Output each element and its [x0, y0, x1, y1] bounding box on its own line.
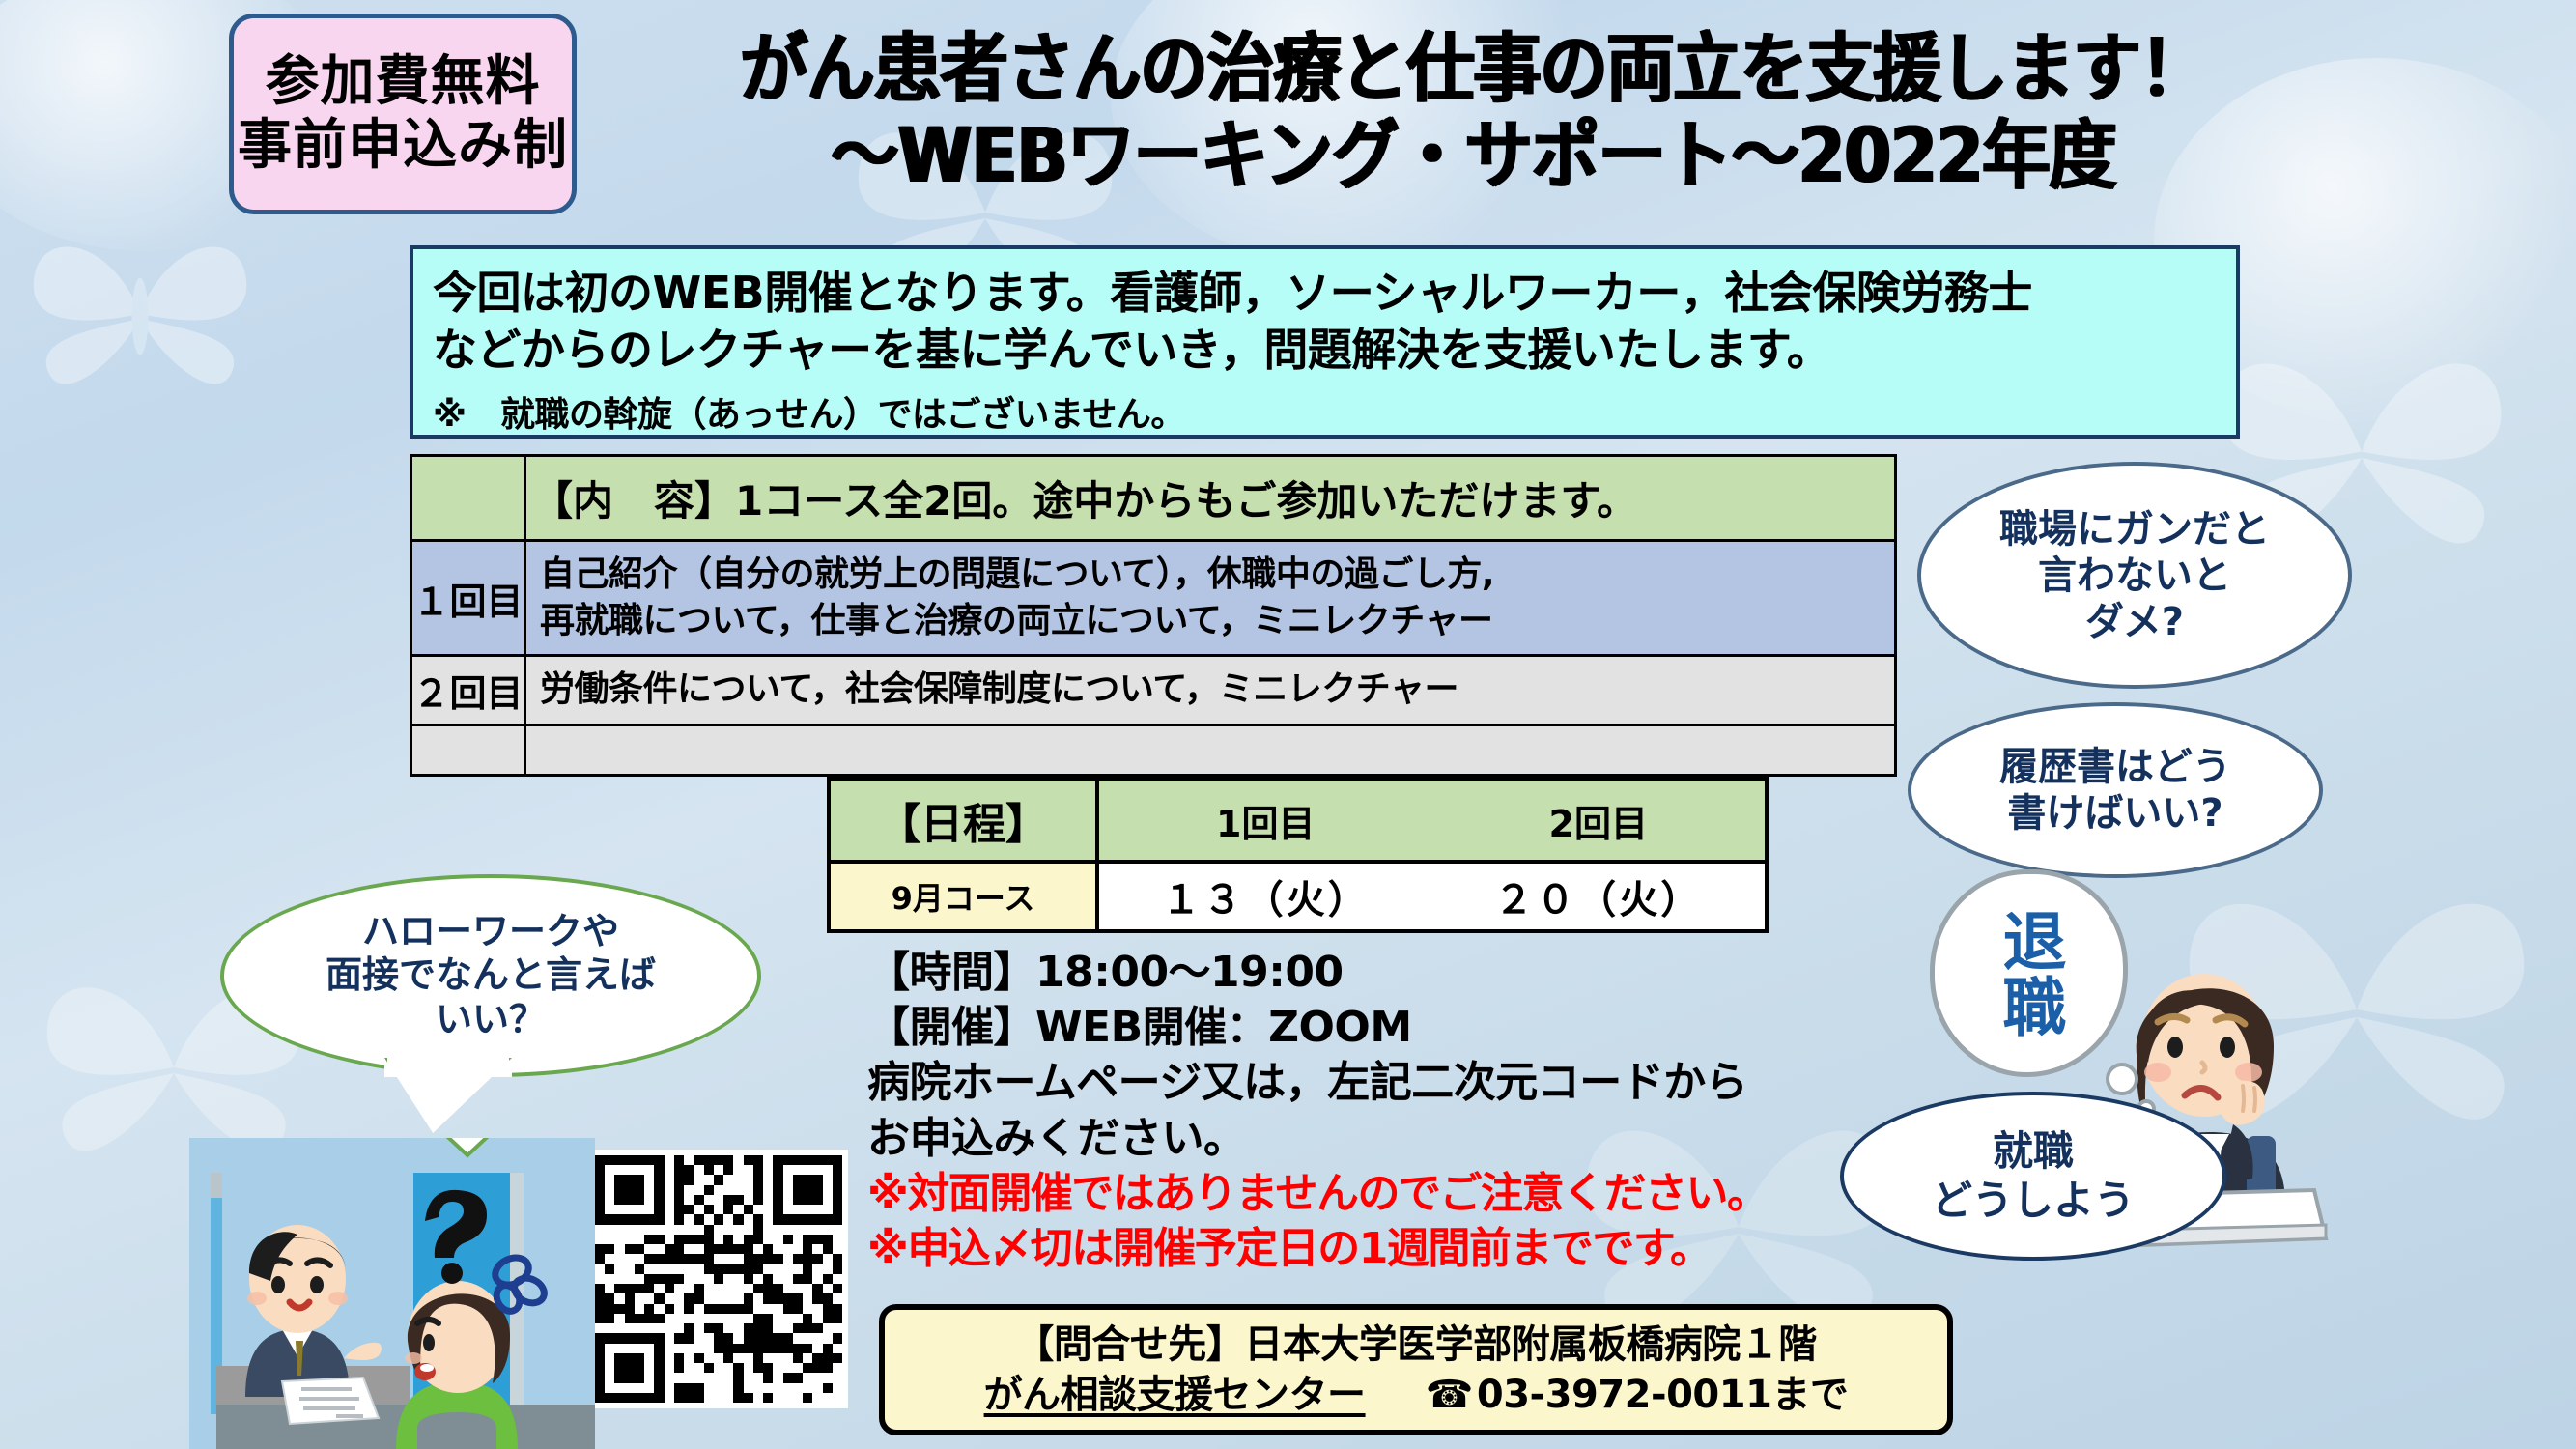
content-session-1-line-1: 自己紹介（自分の就労上の問題について），休職中の過ごし方,: [540, 552, 1888, 598]
qr-module: [614, 1165, 624, 1175]
qr-module: [625, 1274, 635, 1284]
qr-module: [694, 1235, 703, 1244]
qr-module: [605, 1264, 614, 1274]
qr-module: [694, 1264, 703, 1274]
qr-module: [684, 1284, 694, 1293]
qr-module: [733, 1264, 743, 1274]
qr-module: [665, 1244, 674, 1254]
qr-module: [605, 1175, 614, 1184]
qr-module: [744, 1155, 753, 1165]
qr-module: [733, 1175, 743, 1184]
qr-module: [694, 1274, 703, 1284]
qr-module: [654, 1214, 664, 1224]
qr-module: [625, 1155, 635, 1165]
qr-module: [614, 1333, 624, 1343]
qr-module: [763, 1155, 773, 1165]
contact-center-name: がん相談支援センター: [984, 1370, 1422, 1420]
qr-module: [833, 1175, 842, 1184]
content-table-header-row: 【内 容】1コース全2回。途中からもご参加いただけます。: [411, 456, 1896, 541]
qr-module: [614, 1304, 624, 1314]
qr-module: [605, 1205, 614, 1214]
qr-module: [665, 1314, 674, 1323]
qr-module: [694, 1373, 703, 1382]
qr-module: [803, 1353, 812, 1363]
qr-module: [654, 1264, 664, 1274]
qr-module: [733, 1254, 743, 1264]
qr-module: [753, 1363, 763, 1373]
qr-module: [704, 1353, 714, 1363]
qr-module: [635, 1353, 644, 1363]
qr-module: [823, 1284, 833, 1293]
schedule-table: 【日程】 1回目 2回目 9月コース １３（火） ２０（火）: [827, 777, 1769, 933]
qr-module: [665, 1323, 674, 1333]
qr-module: [783, 1165, 793, 1175]
qr-module: [635, 1155, 644, 1165]
qr-module: [812, 1155, 822, 1165]
qr-module: [723, 1205, 733, 1214]
qr-module: [684, 1185, 694, 1195]
content-session-1-label: １回目: [411, 541, 525, 656]
qr-module: [625, 1235, 635, 1244]
qr-module: [793, 1373, 803, 1382]
bubble-workplace-line-2: 言わないと: [2038, 553, 2231, 599]
qr-module: [714, 1344, 723, 1353]
qr-module: [833, 1264, 842, 1274]
qr-module: [605, 1373, 614, 1382]
qr-module: [625, 1373, 635, 1382]
qr-module: [635, 1165, 644, 1175]
qr-module: [625, 1264, 635, 1274]
qr-module: [744, 1344, 753, 1353]
qr-module: [665, 1214, 674, 1224]
qr-module: [684, 1363, 694, 1373]
qr-module: [823, 1155, 833, 1165]
qr-module: [614, 1274, 624, 1284]
qr-module: [614, 1155, 624, 1165]
qr-module: [614, 1344, 624, 1353]
qr-module: [753, 1353, 763, 1363]
qr-module: [674, 1225, 684, 1235]
qr-module: [793, 1274, 803, 1284]
qr-module: [793, 1264, 803, 1274]
qr-module: [763, 1323, 773, 1333]
qr-module: [763, 1264, 773, 1274]
contact-info-box: 【問合せ先】日本大学医学部附属板橋病院１階 がん相談支援センター ☎ 03-39…: [879, 1304, 1953, 1435]
qr-module: [733, 1225, 743, 1235]
qr-module: [654, 1175, 664, 1184]
qr-module: [605, 1304, 614, 1314]
qr-module: [595, 1363, 605, 1373]
qr-module: [744, 1205, 753, 1214]
qr-module: [595, 1175, 605, 1184]
qr-module: [744, 1175, 753, 1184]
qr-module: [595, 1225, 605, 1235]
qr-module: [812, 1323, 822, 1333]
qr-module: [744, 1383, 753, 1393]
qr-module: [684, 1264, 694, 1274]
qr-module: [763, 1333, 773, 1343]
qr-module: [714, 1323, 723, 1333]
qr-module: [723, 1195, 733, 1205]
poster-canvas: 参加費無料 事前申込み制 がん患者さんの治療と仕事の両立を支援します！ ～WEB…: [0, 0, 2576, 1449]
qr-module: [723, 1344, 733, 1353]
qr-module: [723, 1185, 733, 1195]
qr-module: [654, 1235, 664, 1244]
detail-warning-1: ※対面開催ではありませんのでご注意ください。: [867, 1166, 1949, 1221]
bubble-workplace-line-3: ダメ?: [2085, 599, 2184, 645]
qr-module: [773, 1314, 782, 1323]
qr-module: [714, 1254, 723, 1264]
qr-module: [665, 1235, 674, 1244]
intro-paragraph-2: などからのレクチャーを基に学んでいき，問題解決を支援いたします。: [433, 322, 2217, 379]
telephone-icon: ☎: [1426, 1370, 1473, 1420]
qr-module: [684, 1383, 694, 1393]
detail-time: 【時間】18:00～19:00: [867, 945, 1949, 1000]
schedule-date-1: １３（火）: [1162, 868, 1370, 924]
speech-bubble-workplace: 職場にガンだと 言わないと ダメ?: [1917, 462, 2352, 689]
title-line-2: ～WEBワーキング・サポート～2022年度: [609, 108, 2337, 205]
qr-module: [783, 1225, 793, 1235]
qr-module: [773, 1165, 782, 1175]
qr-module: [684, 1353, 694, 1363]
qr-module: [694, 1363, 703, 1373]
qr-module: [803, 1195, 812, 1205]
qr-module: [812, 1175, 822, 1184]
qr-module: [674, 1284, 684, 1293]
qr-module: [783, 1254, 793, 1264]
table-row: 9月コース １３（火） ２０（火）: [829, 862, 1767, 931]
qr-module: [644, 1225, 654, 1235]
qr-module: [635, 1323, 644, 1333]
intro-description-box: 今回は初のWEB開催となります。看護師，ソーシャルワーカー，社会保険労務士 など…: [410, 245, 2240, 439]
qr-module: [733, 1363, 743, 1373]
qr-module: [694, 1244, 703, 1254]
qr-module: [783, 1244, 793, 1254]
qr-module: [803, 1225, 812, 1235]
qr-module: [644, 1353, 654, 1363]
qr-code[interactable]: [589, 1150, 848, 1408]
detail-warning-2: ※申込〆切は開催予定日の1週間前までです。: [867, 1221, 1949, 1276]
qr-module: [773, 1155, 782, 1165]
qr-module: [665, 1175, 674, 1184]
qr-module: [812, 1383, 822, 1393]
qr-module: [654, 1353, 664, 1363]
qr-module: [723, 1155, 733, 1165]
qr-module: [654, 1195, 664, 1205]
qr-module: [684, 1274, 694, 1284]
qr-module: [614, 1225, 624, 1235]
qr-module: [753, 1333, 763, 1343]
qr-module: [694, 1323, 703, 1333]
qr-module: [684, 1175, 694, 1184]
qr-module: [773, 1353, 782, 1363]
qr-module: [644, 1235, 654, 1244]
qr-module: [823, 1225, 833, 1235]
qr-module: [665, 1344, 674, 1353]
qr-module: [694, 1205, 703, 1214]
table-row: ２回目 労働条件について，社会保障制度について，ミニレクチャー: [411, 656, 1896, 724]
qr-module: [823, 1363, 833, 1373]
qr-module: [635, 1293, 644, 1303]
qr-module: [714, 1195, 723, 1205]
qr-module: [773, 1214, 782, 1224]
qr-module: [783, 1274, 793, 1284]
qr-module: [684, 1314, 694, 1323]
qr-module: [595, 1254, 605, 1264]
qr-module: [823, 1254, 833, 1264]
qr-module: [773, 1284, 782, 1293]
qr-module: [665, 1165, 674, 1175]
qr-module: [744, 1363, 753, 1373]
qr-module: [605, 1383, 614, 1393]
qr-module: [684, 1293, 694, 1303]
qr-module: [833, 1353, 842, 1363]
qr-module: [753, 1344, 763, 1353]
qr-module: [714, 1363, 723, 1373]
qr-module: [812, 1284, 822, 1293]
qr-module: [595, 1205, 605, 1214]
qr-module: [614, 1284, 624, 1293]
qr-module: [793, 1284, 803, 1293]
qr-module: [605, 1235, 614, 1244]
qr-module: [684, 1214, 694, 1224]
qr-module: [635, 1333, 644, 1343]
qr-module: [783, 1314, 793, 1323]
qr-module: [625, 1225, 635, 1235]
qr-module: [595, 1185, 605, 1195]
qr-module: [763, 1373, 773, 1382]
qr-module: [803, 1383, 812, 1393]
qr-module: [723, 1214, 733, 1224]
qr-module: [773, 1363, 782, 1373]
qr-module: [803, 1284, 812, 1293]
qr-module: [614, 1185, 624, 1195]
qr-module: [763, 1185, 773, 1195]
qr-module: [714, 1293, 723, 1303]
qr-module: [595, 1383, 605, 1393]
qr-module: [694, 1304, 703, 1314]
bubble-resume-line-2: 書けばいい?: [2007, 790, 2222, 837]
qr-module: [644, 1274, 654, 1284]
qr-module: [644, 1383, 654, 1393]
qr-module: [644, 1195, 654, 1205]
qr-module: [744, 1304, 753, 1314]
qr-module: [753, 1254, 763, 1264]
qr-module: [783, 1214, 793, 1224]
qr-module: [644, 1254, 654, 1264]
qr-module: [714, 1383, 723, 1393]
qr-module: [812, 1205, 822, 1214]
qr-module: [605, 1214, 614, 1224]
qr-module: [605, 1165, 614, 1175]
qr-module: [812, 1195, 822, 1205]
qr-module: [723, 1175, 733, 1184]
qr-module: [753, 1235, 763, 1244]
qr-module: [665, 1195, 674, 1205]
qr-module: [783, 1155, 793, 1165]
qr-module: [823, 1165, 833, 1175]
qr-module: [753, 1214, 763, 1224]
content-header-text: 【内 容】1コース全2回。途中からもご参加いただけます。: [525, 456, 1896, 541]
qr-module: [793, 1225, 803, 1235]
qr-module: [674, 1353, 684, 1363]
qr-module: [605, 1314, 614, 1323]
qr-module: [595, 1353, 605, 1363]
qr-module: [744, 1165, 753, 1175]
qr-module: [773, 1274, 782, 1284]
qr-module: [833, 1304, 842, 1314]
qr-module: [704, 1393, 714, 1403]
qr-module: [744, 1235, 753, 1244]
qr-module: [793, 1314, 803, 1323]
qr-module: [684, 1155, 694, 1165]
qr-module: [674, 1195, 684, 1205]
qr-module: [723, 1383, 733, 1393]
qr-module: [763, 1383, 773, 1393]
qr-module: [674, 1393, 684, 1403]
qr-module: [753, 1293, 763, 1303]
qr-module: [793, 1155, 803, 1165]
bubble-hellowork-line-2: 面接でなんと言えば: [326, 953, 656, 998]
qr-module: [803, 1333, 812, 1343]
qr-module: [823, 1314, 833, 1323]
qr-module: [753, 1175, 763, 1184]
qr-module: [812, 1254, 822, 1264]
qr-module: [733, 1205, 743, 1214]
qr-module: [704, 1264, 714, 1274]
qr-module: [733, 1155, 743, 1165]
qr-module: [605, 1185, 614, 1195]
qr-module: [773, 1293, 782, 1303]
qr-module: [665, 1304, 674, 1314]
qr-module: [744, 1284, 753, 1293]
qr-module: [605, 1333, 614, 1343]
qr-module: [704, 1165, 714, 1175]
qr-module: [625, 1165, 635, 1175]
qr-module: [635, 1373, 644, 1382]
qr-module: [625, 1214, 635, 1224]
qr-module: [783, 1195, 793, 1205]
qr-module: [812, 1353, 822, 1363]
qr-module: [704, 1214, 714, 1224]
qr-module: [605, 1353, 614, 1363]
qr-module: [674, 1254, 684, 1264]
qr-module: [833, 1363, 842, 1373]
qr-module: [595, 1314, 605, 1323]
qr-module: [733, 1185, 743, 1195]
qr-module: [635, 1214, 644, 1224]
qr-module: [812, 1393, 822, 1403]
qr-module: [654, 1333, 664, 1343]
qr-module: [773, 1264, 782, 1274]
qr-module: [614, 1373, 624, 1382]
qr-module: [833, 1293, 842, 1303]
qr-module: [733, 1353, 743, 1363]
qr-module: [773, 1244, 782, 1254]
qr-module: [665, 1225, 674, 1235]
qr-module: [723, 1373, 733, 1382]
qr-module: [654, 1344, 664, 1353]
qr-module: [812, 1235, 822, 1244]
qr-module: [803, 1175, 812, 1184]
qr-module: [684, 1393, 694, 1403]
bubble-hellowork-line-1: ハローワークや: [362, 910, 619, 954]
qr-module: [793, 1383, 803, 1393]
qr-module: [684, 1235, 694, 1244]
content-session-1-line-2: 再就職について，仕事と治療の両立について，ミニレクチャー: [540, 598, 1888, 644]
bubble-job-line-1: 就職: [1993, 1127, 2074, 1176]
qr-module: [763, 1195, 773, 1205]
qr-module: [614, 1254, 624, 1264]
qr-module: [595, 1264, 605, 1274]
qr-module: [744, 1185, 753, 1195]
qr-module: [595, 1393, 605, 1403]
qr-module: [783, 1264, 793, 1274]
qr-module: [704, 1235, 714, 1244]
qr-module: [733, 1333, 743, 1343]
qr-module: [595, 1284, 605, 1293]
qr-module: [714, 1185, 723, 1195]
content-header-spacer: [411, 456, 525, 541]
qr-module: [803, 1264, 812, 1274]
qr-module: [803, 1254, 812, 1264]
qr-module: [674, 1244, 684, 1254]
qr-module: [674, 1373, 684, 1382]
qr-module: [654, 1165, 664, 1175]
qr-module: [812, 1293, 822, 1303]
qr-module: [812, 1244, 822, 1254]
intro-note: ※ 就職の斡旋（あっせん）ではございません。: [433, 386, 2217, 437]
qr-module: [744, 1314, 753, 1323]
qr-module: [803, 1393, 812, 1403]
qr-module: [753, 1393, 763, 1403]
qr-module: [763, 1314, 773, 1323]
qr-module: [654, 1244, 664, 1254]
qr-module: [783, 1175, 793, 1184]
intro-paragraph-1: 今回は初のWEB開催となります。看護師，ソーシャルワーカー，社会保険労務士: [433, 265, 2217, 322]
qr-module: [744, 1293, 753, 1303]
qr-module: [595, 1244, 605, 1254]
qr-module: [753, 1185, 763, 1195]
qr-module: [714, 1373, 723, 1382]
qr-module: [733, 1214, 743, 1224]
qr-module: [704, 1333, 714, 1343]
qr-module: [595, 1165, 605, 1175]
qr-module: [733, 1235, 743, 1244]
qr-module: [635, 1304, 644, 1314]
qr-module: [704, 1293, 714, 1303]
qr-module: [625, 1393, 635, 1403]
qr-module: [595, 1304, 605, 1314]
qr-module: [694, 1175, 703, 1184]
qr-module: [763, 1353, 773, 1363]
qr-module: [823, 1304, 833, 1314]
detail-apply-line-1: 病院ホームページ又は，左記二次元コードから: [867, 1055, 1949, 1110]
qr-module: [674, 1214, 684, 1224]
schedule-header-row: 【日程】 1回目 2回目: [829, 779, 1767, 862]
qr-module: [744, 1333, 753, 1343]
qr-module: [644, 1205, 654, 1214]
qr-module: [763, 1205, 773, 1214]
qr-module: [674, 1205, 684, 1214]
schedule-session-1-header: 1回目: [1216, 794, 1315, 847]
qr-module: [614, 1323, 624, 1333]
qr-module: [595, 1293, 605, 1303]
qr-module: [644, 1363, 654, 1373]
qr-module: [753, 1264, 763, 1274]
qr-module: [605, 1155, 614, 1165]
qr-module: [644, 1333, 654, 1343]
